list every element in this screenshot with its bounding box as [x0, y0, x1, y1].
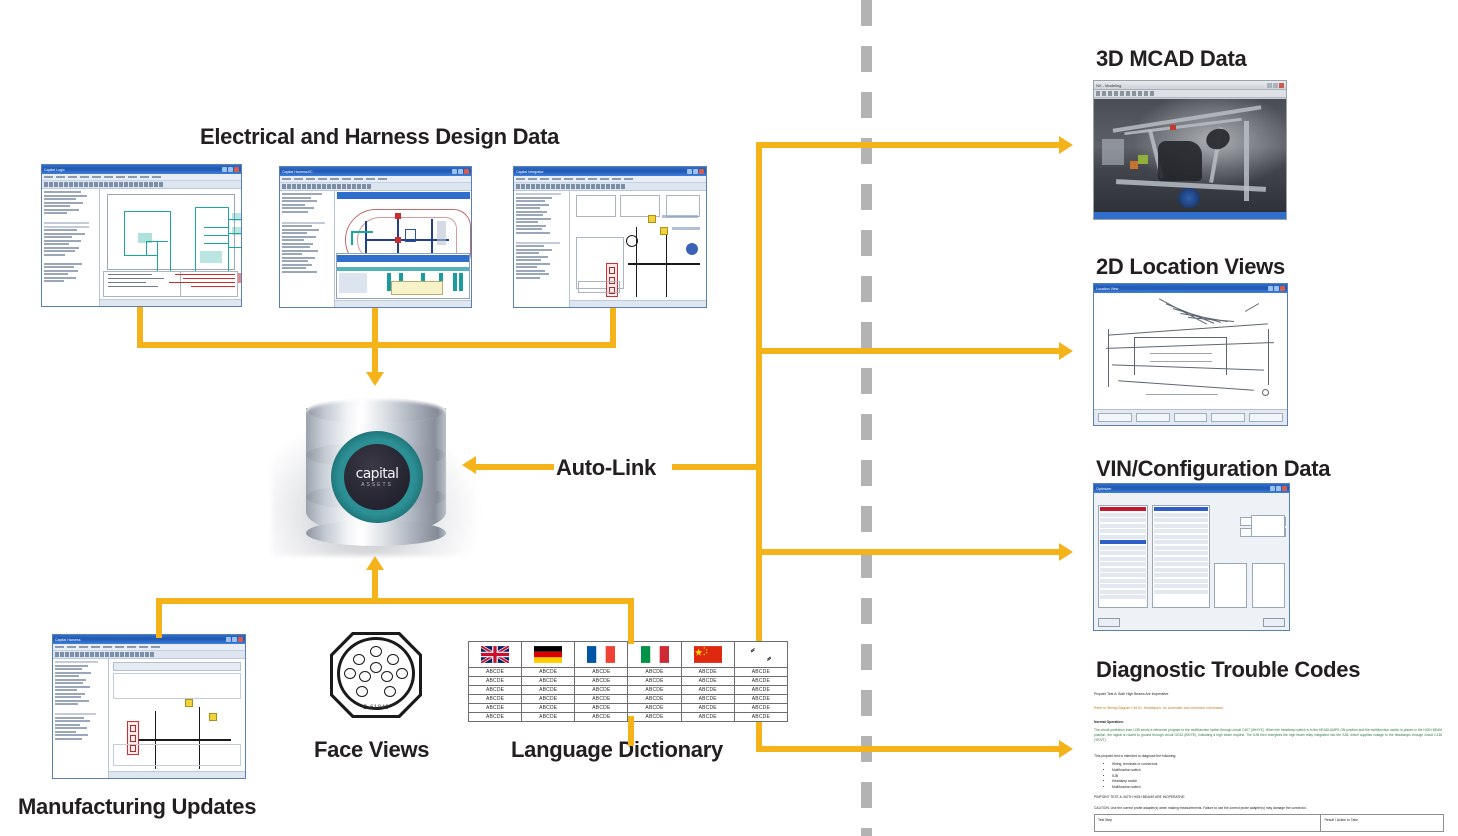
dtc-heading: Pinpoint Test A: Both High Beams Are Ino… — [1094, 692, 1444, 697]
dtc-diagnose-intro: This pinpoint test is intended to diagno… — [1094, 754, 1444, 758]
language-dictionary-row: ABCDEABCDEABCDEABCDEABCDEABCDE — [469, 704, 788, 713]
screen-2d-location-views[interactable]: Location View — [1093, 283, 1288, 426]
menu-bar[interactable] — [514, 176, 706, 183]
language-dictionary-cell: ABCDE — [681, 704, 734, 713]
titlebar-text: Location View — [1096, 286, 1118, 291]
list-item[interactable] — [1100, 595, 1146, 599]
titlebar: Capital Integrator — [514, 167, 706, 176]
screen-harness-layout[interactable]: Capital HarnessXC — [279, 166, 472, 308]
list-item[interactable] — [1100, 562, 1146, 566]
language-dictionary-cell: ABCDE — [628, 668, 681, 677]
list-item[interactable] — [1100, 518, 1146, 522]
status-bar — [1094, 212, 1286, 219]
dtc-label: Diagnostic Trouble Codes — [1096, 657, 1360, 683]
edit-button[interactable] — [1098, 618, 1120, 627]
wire-branch-vin — [756, 549, 1061, 555]
list-item[interactable] — [1100, 584, 1146, 588]
mcad-label: 3D MCAD Data — [1096, 46, 1246, 72]
list-item[interactable] — [1100, 529, 1146, 533]
connector-pin — [359, 671, 371, 682]
harness-tree-panel[interactable] — [280, 191, 335, 307]
language-dictionary-cell: ABCDE — [681, 677, 734, 686]
window-controls[interactable] — [222, 167, 239, 172]
titlebar: Location View — [1094, 284, 1287, 293]
language-dictionary-cell: ABCDE — [522, 686, 575, 695]
titlebar: Capital Harness — [53, 635, 245, 644]
connector-pin — [384, 686, 396, 697]
connector-part-code: C-61849 — [330, 705, 422, 711]
language-dictionary-cell: ABCDE — [469, 713, 522, 722]
toolbar[interactable] — [53, 651, 245, 659]
wire-screen1-down — [137, 307, 143, 345]
language-dictionary-cell: ABCDE — [522, 668, 575, 677]
service-results-panel — [1214, 505, 1285, 549]
schematic-canvas[interactable] — [100, 189, 241, 306]
language-dictionary-cell: ABCDE — [734, 713, 787, 722]
list-item[interactable] — [1154, 579, 1208, 583]
titlebar: Capital HarnessXC — [280, 167, 471, 176]
connector-pin — [396, 668, 408, 679]
menu-bar[interactable] — [53, 644, 245, 651]
mcad-viewport[interactable] — [1094, 99, 1286, 212]
titlebar: Capital Logic — [42, 165, 241, 174]
connector-pin — [370, 646, 382, 657]
language-dictionary-cell: ABCDE — [575, 686, 628, 695]
flag-uk-cell — [469, 642, 522, 668]
dtc-bullet-item: Wiring, terminals or connectors — [1112, 762, 1157, 768]
language-dictionary-label: Language Dictionary — [511, 737, 723, 763]
language-dictionary-cell: ABCDE — [469, 677, 522, 686]
location-views-label: 2D Location Views — [1096, 254, 1285, 280]
engine-bay-line-drawing — [1094, 293, 1287, 409]
list-item-highlighted[interactable] — [1100, 540, 1146, 544]
dtc-table-header-test-step: Test Step — [1095, 815, 1321, 831]
toolbar-button[interactable] — [1136, 413, 1170, 422]
window-body — [280, 191, 471, 307]
connector-pin — [344, 668, 356, 679]
window-body — [514, 191, 706, 307]
language-dictionary-cell: ABCDE — [575, 677, 628, 686]
location-view-canvas[interactable] — [1094, 293, 1287, 409]
screen-3d-mcad[interactable]: NX - Modeling — [1093, 80, 1287, 220]
dtc-reference-link[interactable]: Refer to Wiring Diagram Cell 61, Headlam… — [1094, 706, 1444, 711]
manufacturing-tree-panel[interactable] — [53, 659, 109, 778]
status-bar — [570, 300, 706, 307]
dtc-table-header-result: Result / Action to Take — [1321, 815, 1443, 831]
connector-pin — [353, 654, 365, 665]
titlebar: NX - Modeling — [1094, 81, 1286, 90]
flag-germany-cell — [522, 642, 575, 668]
manufacturing-canvas[interactable] — [109, 659, 245, 778]
flag-uk-icon — [481, 646, 509, 663]
list-item[interactable] — [1154, 524, 1208, 528]
language-dictionary-cell: ABCDE — [628, 704, 681, 713]
list-item[interactable] — [1100, 573, 1146, 577]
language-dictionary-cell: ABCDE — [628, 695, 681, 704]
window-controls[interactable] — [226, 637, 243, 642]
language-flag-header-row — [469, 642, 788, 668]
wire-branch-dtc — [756, 746, 1061, 752]
inputs-heading: Electrical and Harness Design Data — [200, 124, 559, 150]
screen-vin-configuration[interactable]: Optimizer — [1093, 483, 1290, 631]
wire-bottom-bus — [156, 598, 634, 604]
language-dictionary-cell: ABCDE — [681, 668, 734, 677]
dtc-section-label: Normal Operation: — [1094, 720, 1444, 724]
arrow-into-database-side — [462, 456, 476, 474]
document-diagnostic-trouble-codes[interactable]: Pinpoint Test A: Both High Beams Are Ino… — [1090, 688, 1448, 836]
close-button[interactable] — [1263, 618, 1285, 627]
wire-branch-location — [756, 348, 1061, 354]
location-view-button-bar[interactable] — [1094, 409, 1287, 425]
wire-screen3-down — [610, 308, 616, 345]
status-bar — [100, 299, 241, 306]
menu-bar[interactable] — [42, 174, 241, 181]
list-item[interactable] — [1154, 584, 1208, 588]
flag-south-korea-icon — [747, 646, 775, 663]
dtc-bullet-list: Wiring, terminals or connectorsMultifunc… — [1104, 762, 1157, 791]
wire-screen2-down — [372, 308, 378, 345]
project-tree-panel[interactable] — [42, 189, 100, 306]
list-item[interactable] — [1154, 590, 1208, 594]
window-controls[interactable] — [452, 169, 469, 174]
language-dictionary-cell: ABCDE — [734, 677, 787, 686]
window-controls[interactable] — [1268, 286, 1285, 291]
wire-manufacturing-up — [156, 598, 162, 638]
flag-china-cell — [681, 642, 734, 668]
wire-bus-to-db — [372, 342, 378, 374]
toolbar[interactable] — [42, 181, 241, 189]
flag-south-korea-cell — [734, 642, 787, 668]
arrow-to-vin-config — [1059, 543, 1073, 561]
dtc-bullet-item: Multifunction switch — [1112, 785, 1157, 791]
window-controls[interactable] — [1270, 486, 1287, 491]
language-dictionary-cell: ABCDE — [628, 677, 681, 686]
list-item[interactable] — [1100, 513, 1146, 517]
list-item[interactable] — [1100, 568, 1146, 572]
arrow-to-location-views — [1059, 342, 1073, 360]
window-controls[interactable] — [1267, 83, 1284, 88]
toolbar[interactable] — [514, 183, 706, 191]
list-item[interactable] — [1100, 557, 1146, 561]
language-dictionary-cell: ABCDE — [681, 713, 734, 722]
capital-logo-ring: capital ASSETS — [331, 431, 423, 523]
language-dictionary-cell: ABCDE — [734, 704, 787, 713]
list-item[interactable] — [1154, 551, 1208, 555]
connector-pin — [356, 686, 368, 697]
titlebar: Optimizer — [1094, 484, 1289, 493]
language-dictionary-cell: ABCDE — [734, 695, 787, 704]
component-list[interactable] — [1098, 505, 1148, 608]
toolbar-button[interactable] — [1174, 413, 1208, 422]
vertical-dashed-divider — [861, 0, 872, 836]
titlebar-text: Optimizer — [1096, 486, 1111, 491]
language-dictionary-cell: ABCDE — [628, 686, 681, 695]
window-body — [42, 189, 241, 306]
language-dictionary-table[interactable]: ABCDEABCDEABCDEABCDEABCDEABCDEABCDEABCDE… — [468, 641, 788, 722]
vin-config-label: VIN/Configuration Data — [1096, 456, 1330, 482]
language-dictionary-cell: ABCDE — [522, 695, 575, 704]
capital-logo-text: capital — [356, 467, 399, 481]
language-dictionary-cell: ABCDE — [469, 668, 522, 677]
wire-dictionary-up — [628, 598, 634, 644]
capital-logo-disc: capital ASSETS — [344, 444, 410, 510]
connector-pin — [387, 654, 399, 665]
language-dictionary-row: ABCDEABCDEABCDEABCDEABCDEABCDE — [469, 695, 788, 704]
available-levels-list[interactable] — [1152, 505, 1210, 608]
wire-autolink-right — [672, 464, 762, 470]
language-dictionary-cell: ABCDE — [575, 668, 628, 677]
list-item-highlighted[interactable] — [1154, 507, 1208, 511]
flag-china-icon — [694, 646, 722, 663]
menu-bar[interactable] — [280, 176, 471, 183]
status-bar — [335, 300, 471, 307]
flag-france-icon — [587, 646, 615, 663]
status-bar — [109, 771, 245, 778]
face-views-label: Face Views — [314, 737, 429, 763]
list-item[interactable] — [1154, 546, 1208, 550]
toolbar[interactable] — [1094, 90, 1286, 98]
toolbar-button[interactable] — [1098, 413, 1132, 422]
toolbar-button[interactable] — [1211, 413, 1245, 422]
list-item[interactable] — [1154, 540, 1208, 544]
language-dictionary-cell: ABCDE — [469, 695, 522, 704]
list-item[interactable] — [1100, 579, 1146, 583]
component-tree-panel[interactable] — [514, 191, 570, 307]
language-dictionary-cell: ABCDE — [522, 713, 575, 722]
language-dictionary-cell: ABCDE — [469, 686, 522, 695]
list-item[interactable] — [1154, 562, 1208, 566]
overview-details-panel — [1214, 555, 1285, 608]
list-item[interactable] — [1154, 513, 1208, 517]
list-item[interactable] — [1100, 535, 1146, 539]
database-top-ring — [306, 398, 446, 424]
language-dictionary-cell: ABCDE — [734, 668, 787, 677]
language-dictionary-cell: ABCDE — [522, 704, 575, 713]
list-item[interactable] — [1154, 535, 1208, 539]
dtc-body-text: The circuit protection from LDB sends a … — [1094, 728, 1442, 743]
list-item[interactable] — [1154, 557, 1208, 561]
titlebar-text: Capital Logic — [44, 167, 65, 172]
language-dictionary-row: ABCDEABCDEABCDEABCDEABCDEABCDE — [469, 668, 788, 677]
toolbar-button[interactable] — [1249, 413, 1283, 422]
language-dictionary-cell: ABCDE — [469, 704, 522, 713]
dtc-important-note: PINPOINT TEST A: BOTH HIGH BEAMS ARE INO… — [1094, 795, 1444, 799]
auto-link-label: Auto-Link — [556, 455, 656, 481]
connector-pin — [370, 662, 382, 673]
arrow-to-mcad — [1059, 136, 1073, 154]
capital-assets-database[interactable]: capital ASSETS — [296, 398, 456, 546]
flag-germany-icon — [534, 646, 562, 663]
diagram-canvas: Electrical and Harness Design Data Capit… — [0, 0, 1458, 836]
wire-bottom-bus-to-db — [372, 568, 378, 600]
vin-dialog-body — [1094, 493, 1289, 630]
titlebar-text: Capital HarnessXC — [282, 169, 313, 174]
language-dictionary-cell: ABCDE — [681, 695, 734, 704]
language-dictionary-cell: ABCDE — [734, 686, 787, 695]
language-dictionary-row: ABCDEABCDEABCDEABCDEABCDEABCDE — [469, 677, 788, 686]
language-dictionary-cell: ABCDE — [575, 695, 628, 704]
manufacturing-updates-label: Manufacturing Updates — [18, 794, 256, 820]
arrow-into-database-bottom — [366, 556, 384, 570]
screen-manufacturing-updates[interactable]: Capital Harness — [52, 634, 246, 779]
language-dictionary-cell: ABCDE — [575, 713, 628, 722]
titlebar-text: NX - Modeling — [1096, 83, 1121, 88]
toolbar[interactable] — [280, 183, 471, 191]
list-item[interactable] — [1154, 568, 1208, 572]
wire-branch-mcad — [756, 142, 1061, 148]
wire-autolink-left — [476, 464, 554, 470]
titlebar-text: Capital Integrator — [516, 169, 544, 174]
list-item[interactable] — [1100, 551, 1146, 555]
titlebar-text: Capital Harness — [55, 637, 81, 642]
language-dictionary-row: ABCDEABCDEABCDEABCDEABCDEABCDE — [469, 686, 788, 695]
language-dictionary-body: ABCDEABCDEABCDEABCDEABCDEABCDEABCDEABCDE… — [469, 668, 788, 722]
database-bottom-ring — [306, 520, 446, 546]
list-item[interactable] — [1100, 524, 1146, 528]
list-item[interactable] — [1100, 590, 1146, 594]
vehicle-layout-canvas[interactable] — [335, 191, 471, 307]
wiring-canvas[interactable] — [570, 191, 706, 307]
language-dictionary-cell: ABCDE — [681, 686, 734, 695]
list-item[interactable] — [1154, 529, 1208, 533]
list-item[interactable] — [1154, 518, 1208, 522]
list-item-selected[interactable] — [1100, 507, 1146, 511]
screen-schematic-design[interactable]: Capital Logic — [41, 164, 242, 307]
list-item[interactable] — [1154, 573, 1208, 577]
window-controls[interactable] — [687, 169, 704, 174]
wire-dictionary-tail — [628, 716, 634, 746]
language-dictionary-cell: ABCDE — [575, 704, 628, 713]
language-dictionary-cell: ABCDE — [628, 713, 681, 722]
language-dictionary-cell: ABCDE — [522, 677, 575, 686]
window-body — [53, 659, 245, 778]
flag-france-cell — [575, 642, 628, 668]
dtc-caution-note: CAUTION: Use the correct probe adapter(s… — [1094, 806, 1444, 810]
flag-italy-cell — [628, 642, 681, 668]
list-item[interactable] — [1100, 546, 1146, 550]
screen-wiring-diagram[interactable]: Capital Integrator — [513, 166, 707, 308]
capital-logo-subtext: ASSETS — [361, 483, 393, 488]
flag-italy-icon — [641, 646, 669, 663]
arrow-into-database-top — [366, 372, 384, 386]
connector-pin — [381, 671, 393, 682]
arrow-to-dtc — [1059, 740, 1073, 758]
dtc-results-table: Test Step Result / Action to Take — [1094, 814, 1444, 832]
